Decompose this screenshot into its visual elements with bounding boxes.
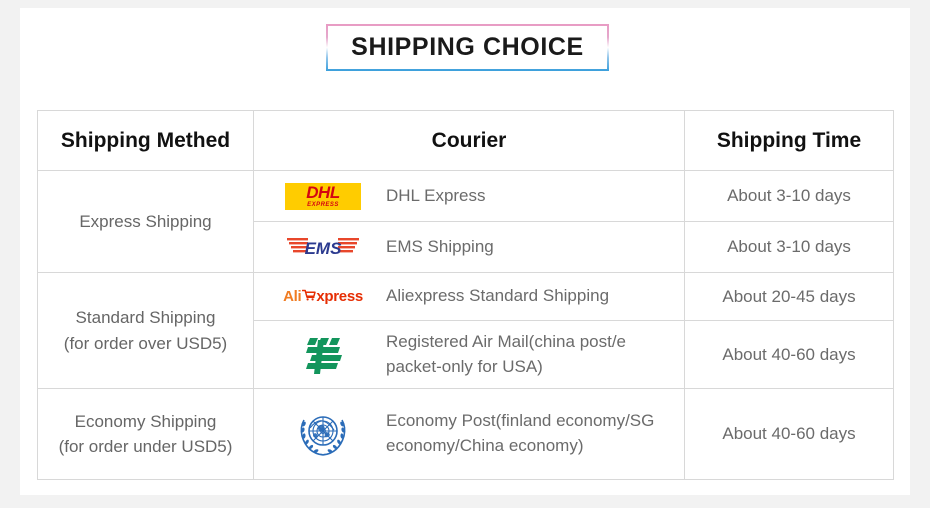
shipping-info-card: SHIPPING CHOICE Shipping Methed Courier … (20, 8, 910, 495)
china-post-logo (301, 334, 345, 376)
courier-cell-ems: EMS EMS Shipping (254, 222, 685, 273)
shipping-time-value: About 3-10 days (685, 171, 894, 222)
method-cell-economy: Economy Shipping (for order under USD5) (38, 389, 254, 480)
logo-box (264, 334, 382, 376)
dhl-logo: DHL EXPRESS (285, 183, 361, 210)
logo-box: DHL EXPRESS (264, 183, 382, 210)
shipping-time-value: About 40-60 days (685, 321, 894, 389)
page-title: SHIPPING CHOICE (351, 33, 584, 62)
method-cell-express: Express Shipping (38, 171, 254, 273)
courier-cell-dhl: DHL EXPRESS DHL Express (254, 171, 685, 222)
un-emblem-logo (296, 408, 350, 460)
courier-cell-aliexpress: Ali xpress (254, 273, 685, 321)
courier-inner: EMS EMS Shipping (254, 222, 684, 272)
shipping-time-value: About 40-60 days (685, 389, 894, 480)
title-inner: SHIPPING CHOICE (328, 26, 607, 69)
shipping-time-value: About 20-45 days (685, 273, 894, 321)
method-label: Standard Shipping (76, 308, 216, 327)
method-note: (for order over USD5) (38, 331, 253, 357)
aliexpress-xpress-text: xpress (316, 288, 363, 305)
courier-name: Registered Air Mail(china post/e packet-… (382, 330, 684, 379)
courier-inner: Ali xpress (254, 273, 684, 320)
courier-cell-economy-post: Economy Post(finland economy/SG economy/… (254, 389, 685, 480)
shipping-choice-title-banner: SHIPPING CHOICE (326, 24, 609, 71)
header-courier: Courier (254, 111, 685, 171)
header-shipping-method: Shipping Methed (38, 111, 254, 171)
courier-name: DHL Express (382, 184, 486, 209)
method-note: (for order under USD5) (38, 434, 253, 460)
courier-inner: Economy Post(finland economy/SG economy/… (254, 389, 684, 479)
aliexpress-ali-text: Ali (283, 288, 301, 305)
logo-box: EMS (264, 233, 382, 261)
courier-name: Aliexpress Standard Shipping (382, 284, 609, 309)
aliexpress-logo: Ali xpress (283, 288, 363, 306)
table-row: Standard Shipping (for order over USD5) … (38, 273, 894, 321)
courier-inner: DHL EXPRESS DHL Express (254, 171, 684, 221)
table-row: Express Shipping DHL EXPRESS DHL Express… (38, 171, 894, 222)
courier-cell-china-post: Registered Air Mail(china post/e packet-… (254, 321, 685, 389)
table-header: Shipping Methed Courier Shipping Time (38, 111, 894, 171)
table-body: Express Shipping DHL EXPRESS DHL Express… (38, 171, 894, 480)
dhl-wordmark: DHL (306, 184, 339, 201)
table-row: Economy Shipping (for order under USD5) (38, 389, 894, 480)
svg-text:EMS: EMS (305, 239, 343, 258)
method-label: Economy Shipping (75, 412, 217, 431)
shopping-cart-icon (302, 288, 316, 306)
shipping-time-value: About 3-10 days (685, 222, 894, 273)
courier-inner: Registered Air Mail(china post/e packet-… (254, 321, 684, 388)
logo-box: Ali xpress (264, 288, 382, 306)
table-header-row: Shipping Methed Courier Shipping Time (38, 111, 894, 171)
dhl-express-subtext: EXPRESS (307, 202, 339, 208)
header-shipping-time: Shipping Time (685, 111, 894, 171)
shipping-options-table: Shipping Methed Courier Shipping Time Ex… (37, 110, 894, 480)
method-cell-standard: Standard Shipping (for order over USD5) (38, 273, 254, 389)
ems-logo-graphic: EMS (287, 233, 359, 261)
courier-name: Economy Post(finland economy/SG economy/… (382, 409, 684, 458)
courier-name: EMS Shipping (382, 235, 494, 260)
logo-box (264, 408, 382, 460)
method-label: Express Shipping (79, 212, 211, 231)
ems-logo: EMS (287, 233, 359, 261)
